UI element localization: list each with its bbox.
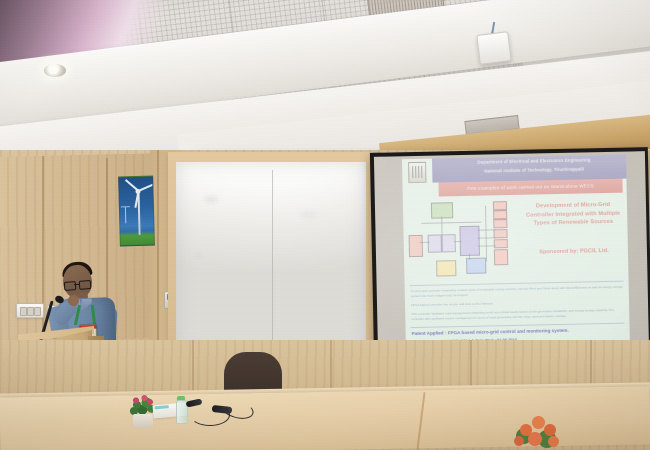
whiteboard-smudge-1	[204, 196, 218, 203]
panel-seam-3	[157, 150, 159, 365]
diagram-block-battery	[436, 260, 456, 276]
diagram-block-converter-a	[428, 234, 442, 252]
eyeglass-lens-left	[64, 281, 77, 291]
eyeglasses-icon	[64, 280, 90, 289]
slide-body-point-3: This controller facilitates load managem…	[411, 308, 624, 322]
diagram-block-converter-b	[442, 234, 456, 252]
institute-logo	[408, 162, 426, 183]
projected-slide: Department of Electrical and Electronics…	[402, 155, 630, 358]
diagram-block-load	[466, 258, 486, 274]
turbine-blade-icon-2	[125, 179, 139, 192]
diagram-connector-v3	[485, 206, 487, 262]
flower-bloom-2	[532, 416, 545, 429]
diagram-connector-v1	[441, 216, 442, 234]
slide-banner-text: Few examples of work carried out on Stan…	[438, 179, 622, 197]
whiteboard-smudge-3	[300, 210, 318, 219]
downlight-icon-left	[44, 64, 66, 77]
seminar-hall-photo: Department of Electrical and Electronics…	[0, 0, 650, 450]
projection-screen: Department of Electrical and Electronics…	[370, 147, 650, 363]
diagram-block-bus-3	[493, 219, 507, 228]
diagram-block-bus-2	[493, 210, 507, 219]
diagram-block-bus-1	[493, 201, 507, 210]
slide-title: Development of Micro-Grid Controller Int…	[523, 201, 624, 229]
wind-turbine-poster	[118, 176, 155, 247]
diagram-block-wind	[431, 202, 453, 218]
diagram-block-bus-5	[494, 239, 508, 248]
slide-patent-line: Patent Applied : FPGA based micro-grid c…	[412, 328, 569, 337]
diagram-block-bus-6	[494, 249, 508, 265]
table-panel-seam-3	[470, 340, 472, 392]
wall-speaker-icon	[476, 31, 511, 65]
diagram-block-source-left	[409, 235, 423, 257]
slide-banner: Few examples of work carried out on Stan…	[438, 179, 622, 197]
whiteboard[interactable]	[176, 162, 366, 354]
slide-divider-bottom	[410, 323, 624, 328]
turbine-background-icon	[125, 207, 126, 223]
diagram-connector-v2	[469, 254, 470, 260]
flower-bloom-5	[514, 436, 524, 446]
flower-bloom-6	[548, 436, 559, 447]
block-diagram	[407, 199, 525, 279]
whiteboard-smudge-2	[196, 252, 201, 257]
whiteboard-seam	[272, 170, 273, 352]
flower-arrangement-right	[512, 412, 564, 450]
projection-screen-surface: Department of Electrical and Electronics…	[374, 151, 649, 358]
slide-body-point-1: A micro-grid controller integrating mult…	[411, 285, 624, 299]
slide-body-point-2: FPGA based controller has source and loa…	[411, 299, 624, 308]
flower-bloom-3	[544, 424, 556, 436]
flower-bloom-4	[528, 432, 542, 446]
slide-sponsor: Sponsored by: PGCIL Ltd.	[524, 247, 624, 257]
eyeglass-lens-right	[79, 280, 92, 290]
flower-pot	[133, 414, 153, 428]
turbine-blade-icon-3	[138, 183, 154, 192]
socket-switch-plate-left[interactable]	[16, 303, 44, 318]
